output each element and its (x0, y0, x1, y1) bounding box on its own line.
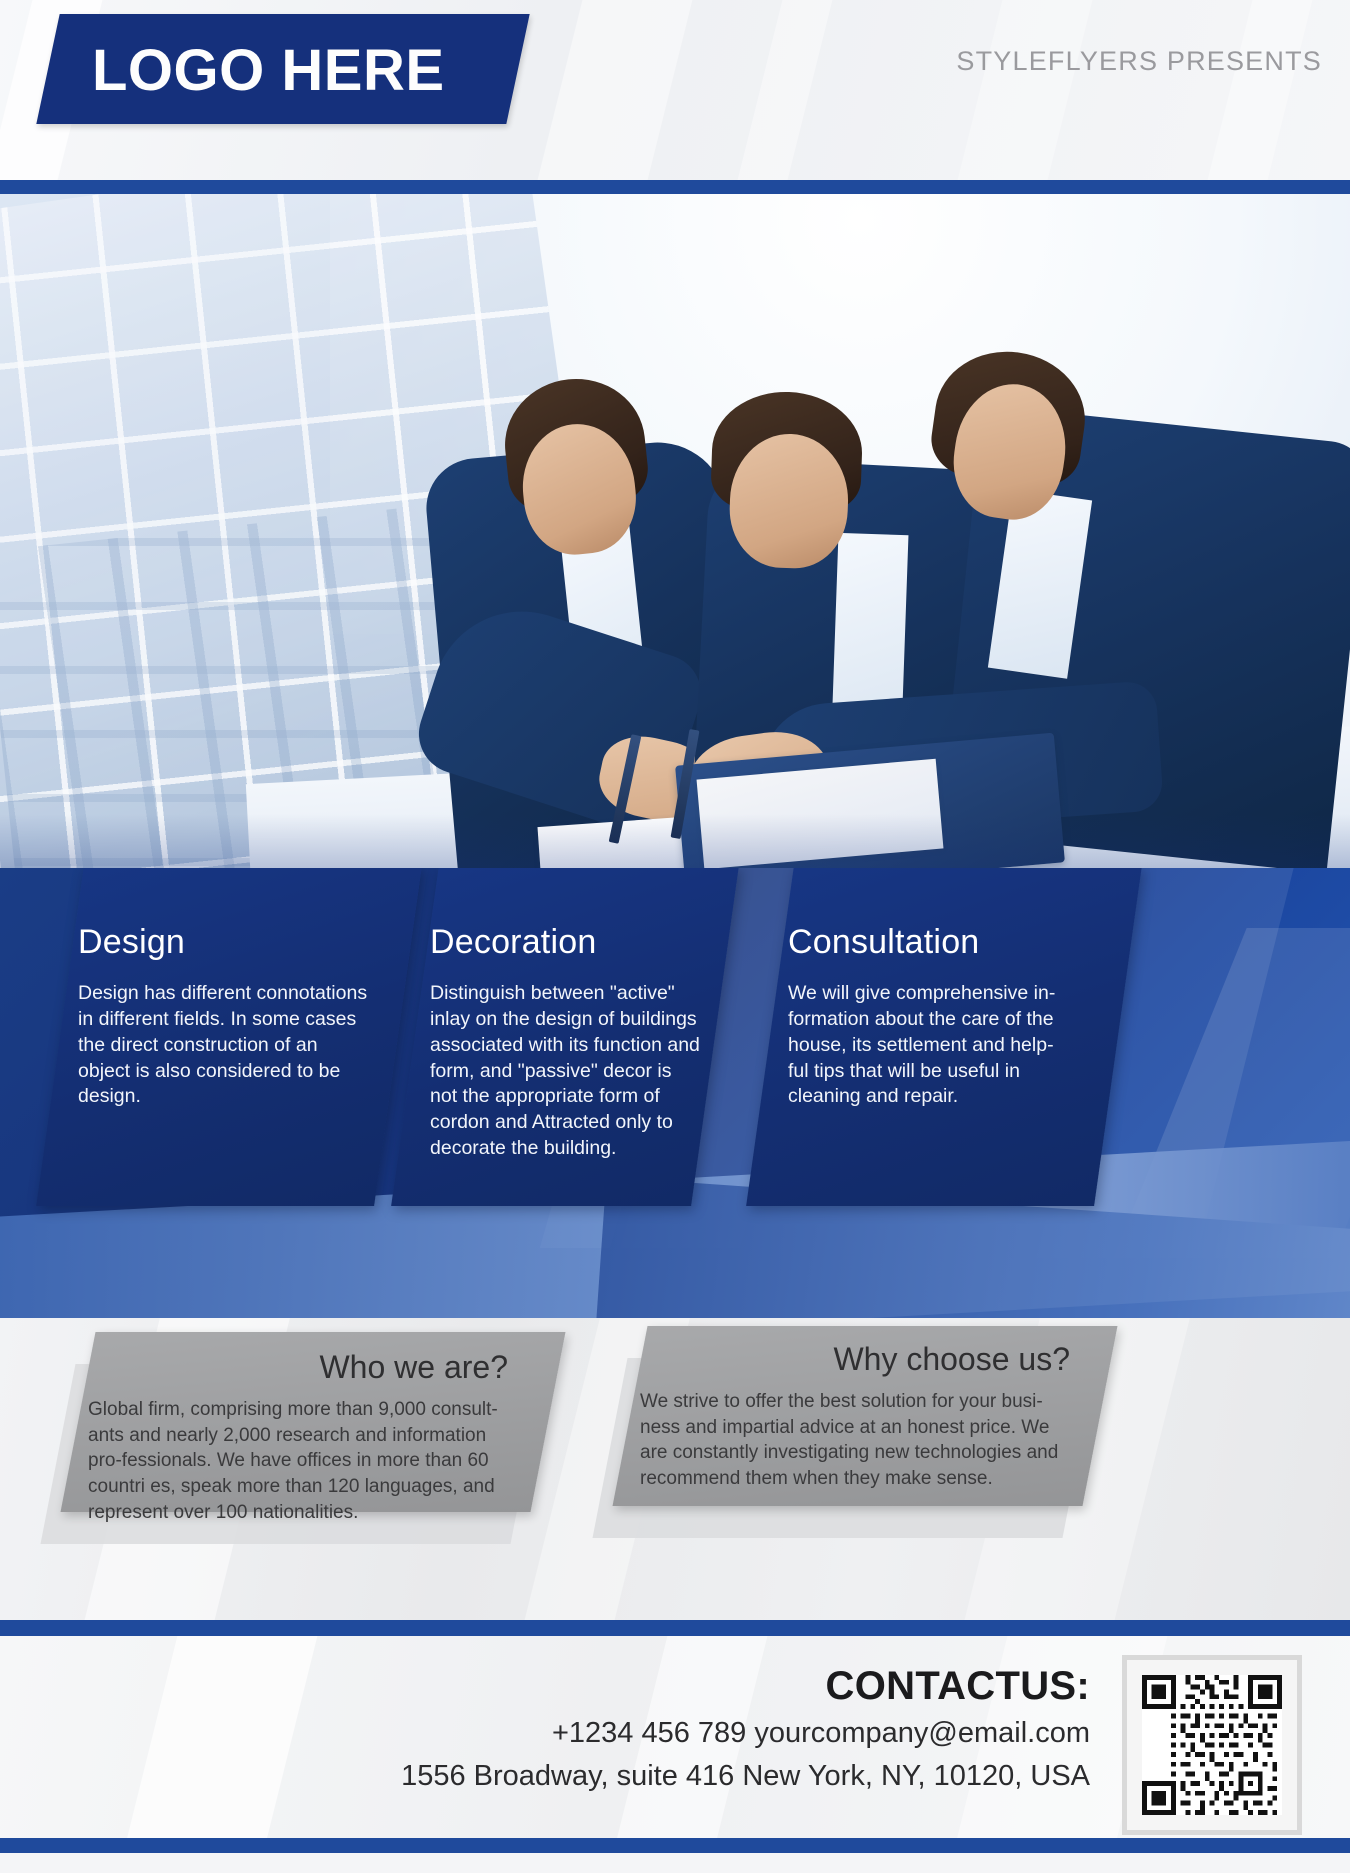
service-body-design: Design has different connotations in dif… (78, 981, 368, 1110)
about-body-who-we-are: Global firm, comprising more than 9,000 … (88, 1397, 508, 1525)
flyer-page: LOGO HERE STYLEFLYERS PRESENTS (0, 0, 1350, 1873)
footer-decorative-stripe-1 (115, 1636, 325, 1838)
about-section: Who we are? Global firm, comprising more… (0, 1318, 1350, 1620)
service-body-decoration: Distinguish between "active" inlay on th… (430, 981, 700, 1161)
about-body-why-choose-us: We strive to offer the best solution for… (640, 1389, 1070, 1492)
photo-bottom-fade (0, 814, 1350, 874)
about-title-who-we-are: Who we are? (88, 1350, 508, 1385)
service-title-design: Design (78, 924, 368, 961)
about-panel-who-we-are-content: Who we are? Global firm, comprising more… (88, 1350, 508, 1525)
contact-phone-email[interactable]: +1234 456 789 yourcompany@email.com (330, 1715, 1090, 1752)
contact-address: 1556 Broadway, suite 416 New York, NY, 1… (330, 1758, 1090, 1795)
service-card-consultation-content: Consultation We will give comprehensive … (788, 924, 1056, 1264)
top-blue-divider (0, 180, 1350, 194)
service-card-decoration-content: Decoration Distinguish between "active" … (430, 924, 700, 1264)
qr-code-card[interactable] (1122, 1655, 1302, 1835)
contact-block: CONTACTUS: +1234 456 789 yourcompany@ema… (330, 1664, 1090, 1795)
bottom-blue-divider (0, 1838, 1350, 1853)
service-card-design-content: Design Design has different connotations… (78, 924, 368, 1264)
service-body-consultation: We will give comprehensive in-formation … (788, 981, 1056, 1110)
service-title-decoration: Decoration (430, 924, 700, 961)
header: LOGO HERE STYLEFLYERS PRESENTS (0, 0, 1350, 180)
logo-text: LOGO HERE (92, 30, 512, 110)
presents-text: STYLEFLYERS PRESENTS (956, 46, 1322, 77)
contact-heading: CONTACTUS: (330, 1664, 1090, 1709)
services-section: Design Design has different connotations… (0, 868, 1350, 1318)
hero-photo (0, 194, 1350, 874)
service-title-consultation: Consultation (788, 924, 1056, 961)
about-title-why-choose-us: Why choose us? (640, 1342, 1070, 1377)
about-panel-why-choose-us-content: Why choose us? We strive to offer the be… (640, 1342, 1070, 1492)
qr-code-icon (1142, 1675, 1282, 1815)
middle-blue-divider (0, 1620, 1350, 1636)
